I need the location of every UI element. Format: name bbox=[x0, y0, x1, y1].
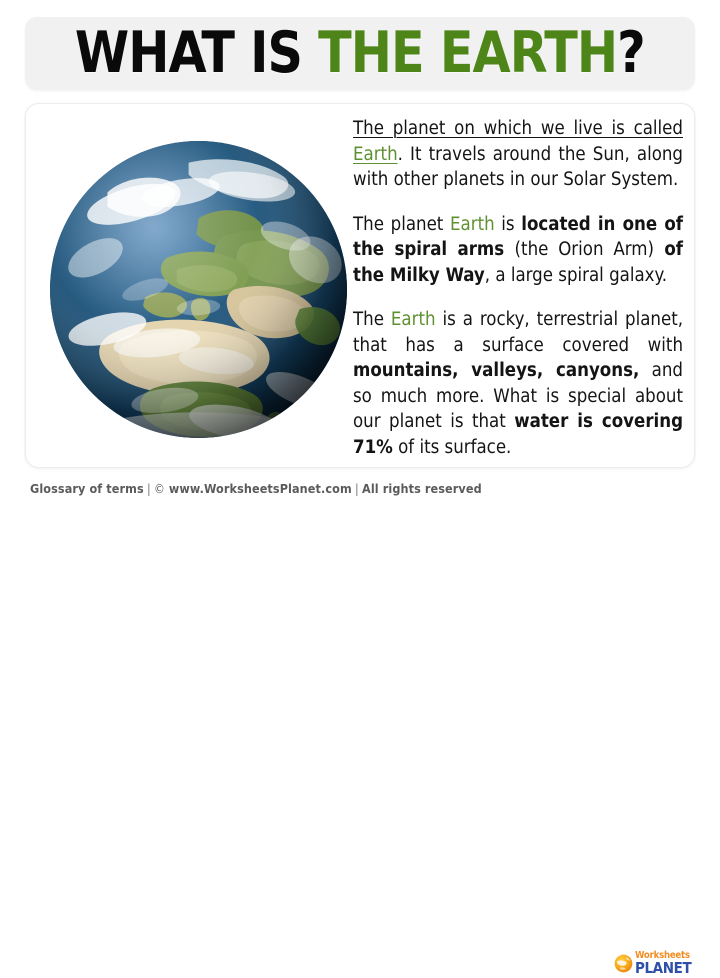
page-title-part-1: WHAT IS bbox=[75, 20, 318, 86]
p1-run-4: . It travels around the Sun, along with … bbox=[353, 144, 683, 191]
paragraph-3: The Earth is a rocky, terrestrial planet… bbox=[353, 307, 683, 460]
page-title-part-2: ? bbox=[617, 20, 645, 86]
logo-word-planet: PLANET bbox=[635, 961, 710, 976]
p3-run-1: The bbox=[353, 309, 391, 330]
p2-run-5: (the Orion Arm) bbox=[515, 239, 654, 260]
footer-website[interactable]: www.WorksheetsPlanet.com bbox=[169, 481, 352, 496]
logo-wordmark: Worksheets PLANET bbox=[635, 951, 710, 976]
p2-run-3: is bbox=[495, 214, 522, 235]
content-card: The planet on which we live is called Ea… bbox=[25, 103, 695, 468]
logo-word-worksheets: Worksheets bbox=[635, 951, 710, 961]
earth-globe-svg bbox=[50, 141, 347, 438]
footer-separator-1: | bbox=[144, 481, 154, 496]
footer-credits: Glossary of terms|© www.WorksheetsPlanet… bbox=[30, 481, 482, 496]
earth-globe-icon bbox=[50, 141, 347, 438]
p2-run-7: , a large spiral galaxy. bbox=[485, 265, 667, 286]
footer-rights: All rights reserved bbox=[362, 481, 482, 496]
p3-run-7: of its surface. bbox=[393, 437, 512, 458]
p1-run-earth: Earth bbox=[353, 144, 398, 165]
copyright-icon: © bbox=[154, 482, 165, 496]
footer-separator-2: | bbox=[352, 481, 362, 496]
p3-run-earth: Earth bbox=[391, 309, 436, 330]
footer-glossary-label[interactable]: Glossary of terms bbox=[30, 481, 144, 496]
p3-run-4: mountains, valleys, canyons, bbox=[353, 360, 639, 381]
p1-run-1: The planet on which we live is bbox=[353, 118, 634, 139]
page-title: WHAT IS THE EARTH? bbox=[75, 25, 645, 82]
article-text-column: The planet on which we live is called Ea… bbox=[353, 116, 683, 460]
paragraph-1: The planet on which we live is called Ea… bbox=[353, 116, 683, 193]
title-card: WHAT IS THE EARTH? bbox=[25, 17, 695, 90]
earth-illustration bbox=[38, 134, 348, 444]
footer: Glossary of terms|© www.WorksheetsPlanet… bbox=[0, 472, 720, 509]
logo-globe-svg bbox=[614, 954, 633, 973]
p1-run-2: called bbox=[634, 118, 683, 139]
p2-run-1: The planet bbox=[353, 214, 450, 235]
paragraph-2: The planet Earth is located in one of th… bbox=[353, 212, 683, 289]
worksheets-planet-logo[interactable]: Worksheets PLANET bbox=[614, 950, 710, 976]
logo-globe-icon bbox=[614, 954, 633, 973]
p2-run-earth: Earth bbox=[450, 214, 495, 235]
page-title-part-green: THE EARTH bbox=[318, 20, 617, 86]
